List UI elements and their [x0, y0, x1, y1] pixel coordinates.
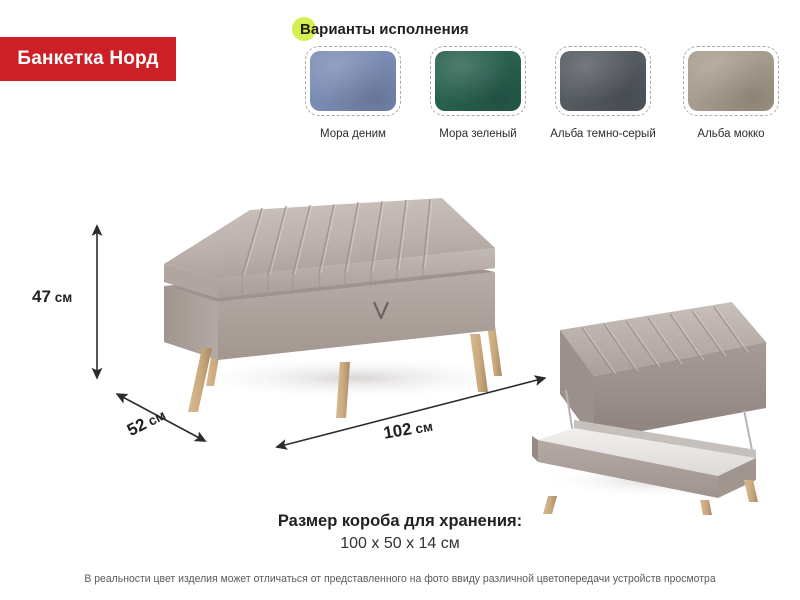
bench-closed-illustration [150, 190, 550, 420]
variant-swatch-label: Мора деним [300, 128, 406, 140]
variant-swatch-3[interactable]: Альба мокко [678, 46, 784, 140]
swatch-frame [555, 46, 651, 116]
variant-swatch-list: Мора деним Мора зеленый Альба темно-серы… [300, 46, 790, 151]
swatch-frame [683, 46, 779, 116]
product-scene [0, 160, 800, 520]
swatch-frame [430, 46, 526, 116]
swatch-color-chip [560, 51, 646, 111]
storage-size-title: Размер короба для хранения: [0, 512, 800, 531]
height-dimension-label: 47 см [32, 287, 72, 307]
width-unit: см [414, 419, 434, 437]
variant-swatch-label: Альба мокко [678, 128, 784, 140]
bench-closed-image [150, 190, 550, 420]
variants-heading: Варианты исполнения [292, 16, 469, 42]
swatch-color-chip [688, 51, 774, 111]
height-unit: см [55, 290, 73, 305]
bench-open-image [530, 290, 792, 515]
swatch-frame [305, 46, 401, 116]
variant-swatch-2[interactable]: Альба темно-серый [550, 46, 656, 140]
variants-heading-label: Варианты исполнения [292, 21, 469, 38]
variant-swatch-label: Мора зеленый [425, 128, 531, 140]
bench-open-illustration [530, 290, 792, 515]
product-title-badge: Банкетка Норд [0, 37, 176, 81]
storage-size-value: 100 x 50 x 14 см [0, 535, 800, 553]
product-title: Банкетка Норд [17, 48, 158, 70]
width-value: 102 [382, 419, 413, 442]
variant-swatch-label: Альба темно-серый [550, 128, 656, 140]
height-value: 47 [32, 287, 51, 306]
storage-size-caption: Размер короба для хранения: 100 x 50 x 1… [0, 512, 800, 553]
color-disclaimer: В реальности цвет изделия может отличать… [20, 573, 780, 585]
variant-swatch-1[interactable]: Мора зеленый [425, 46, 531, 140]
variant-swatch-0[interactable]: Мора деним [300, 46, 406, 140]
swatch-color-chip [435, 51, 521, 111]
swatch-color-chip [310, 51, 396, 111]
